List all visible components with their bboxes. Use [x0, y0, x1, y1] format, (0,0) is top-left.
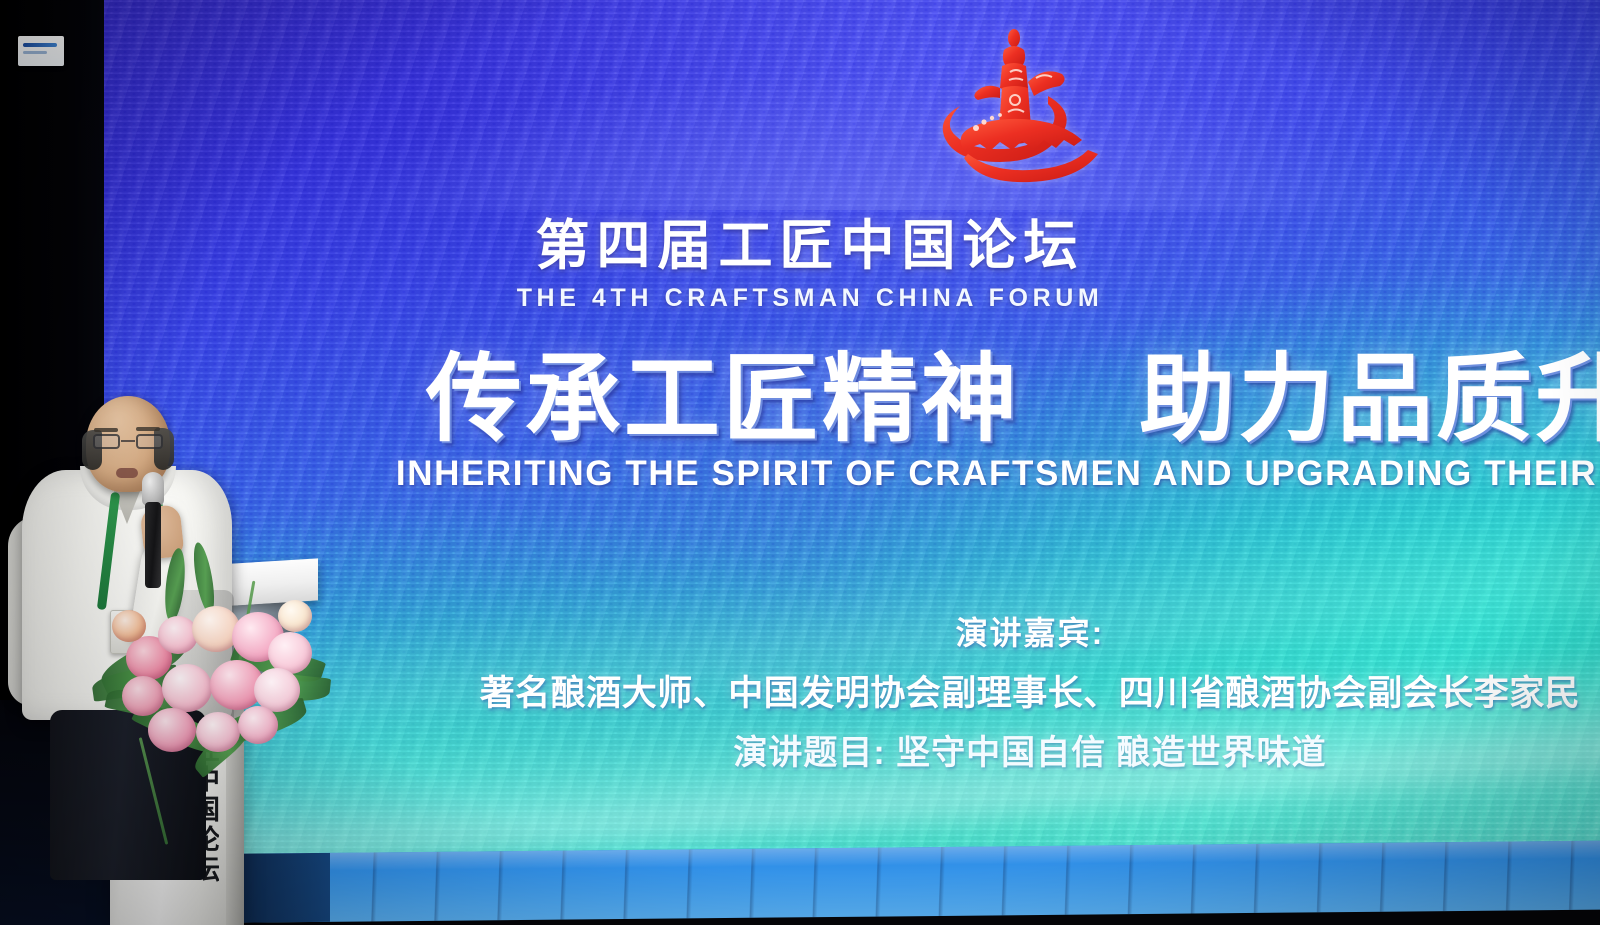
- stage-photo: 第四届工匠中国论坛 THE 4TH CRAFTSMAN CHINA FORUM …: [0, 0, 1600, 925]
- flower-blossom: [278, 600, 312, 632]
- flower-blossom: [122, 676, 164, 716]
- slogan-chinese: 传承工匠精神 助力品质升: [340, 352, 1600, 448]
- slogan-block: 传承工匠精神 助力品质升 INHERITING THE SPIRIT OF CR…: [100, 352, 1600, 494]
- microphone-head: [142, 472, 164, 506]
- slogan-english: INHERITING THE SPIRIT OF CRAFTSMEN AND U…: [340, 454, 1600, 494]
- forum-title-block: 第四届工匠中国论坛 THE 4TH CRAFTSMAN CHINA FORUM: [100, 218, 1600, 313]
- slogan-chinese-part2: 助力品质升: [1139, 346, 1600, 453]
- glasses-lens-left: [93, 434, 120, 449]
- flower-arrangement: [92, 540, 336, 790]
- microphone-flag-bar-primary: [23, 43, 57, 47]
- presenter-eyebrow-right: [136, 427, 160, 431]
- microphone-flag-bar-secondary: [23, 51, 47, 54]
- glasses-lens-right: [136, 434, 163, 449]
- presenter-eyebrow-left: [94, 428, 118, 432]
- microphone-logo-flag: [18, 36, 64, 66]
- flower-blossom: [196, 712, 240, 752]
- flower-leaf: [162, 547, 188, 622]
- forum-title-english: THE 4TH CRAFTSMAN CHINA FORUM: [100, 284, 1520, 313]
- speaker-label: 演讲嘉宾:: [340, 608, 1600, 654]
- flower-blossom: [238, 706, 278, 744]
- speaker-credentials: 著名酿酒大师、中国发明协会副理事长、四川省酿酒协会副会长李家民: [340, 665, 1600, 716]
- led-top-glow: [100, 0, 1600, 210]
- craftsman-china-forum-logo-icon: [930, 22, 1100, 202]
- forum-title-chinese: 第四届工匠中国论坛: [100, 218, 1520, 275]
- flower-blossom: [148, 708, 196, 752]
- speech-topic: 演讲题目: 坚守中国自信 酿造世界味道: [340, 725, 1600, 774]
- flower-blossom: [162, 664, 212, 712]
- flower-leaf: [190, 541, 218, 615]
- presenter-glasses: [92, 434, 164, 450]
- presenter-mouth: [116, 468, 138, 478]
- slogan-chinese-part1: 传承工匠精神: [426, 346, 1020, 453]
- flower-blossom: [112, 610, 146, 642]
- glasses-bridge: [121, 440, 135, 442]
